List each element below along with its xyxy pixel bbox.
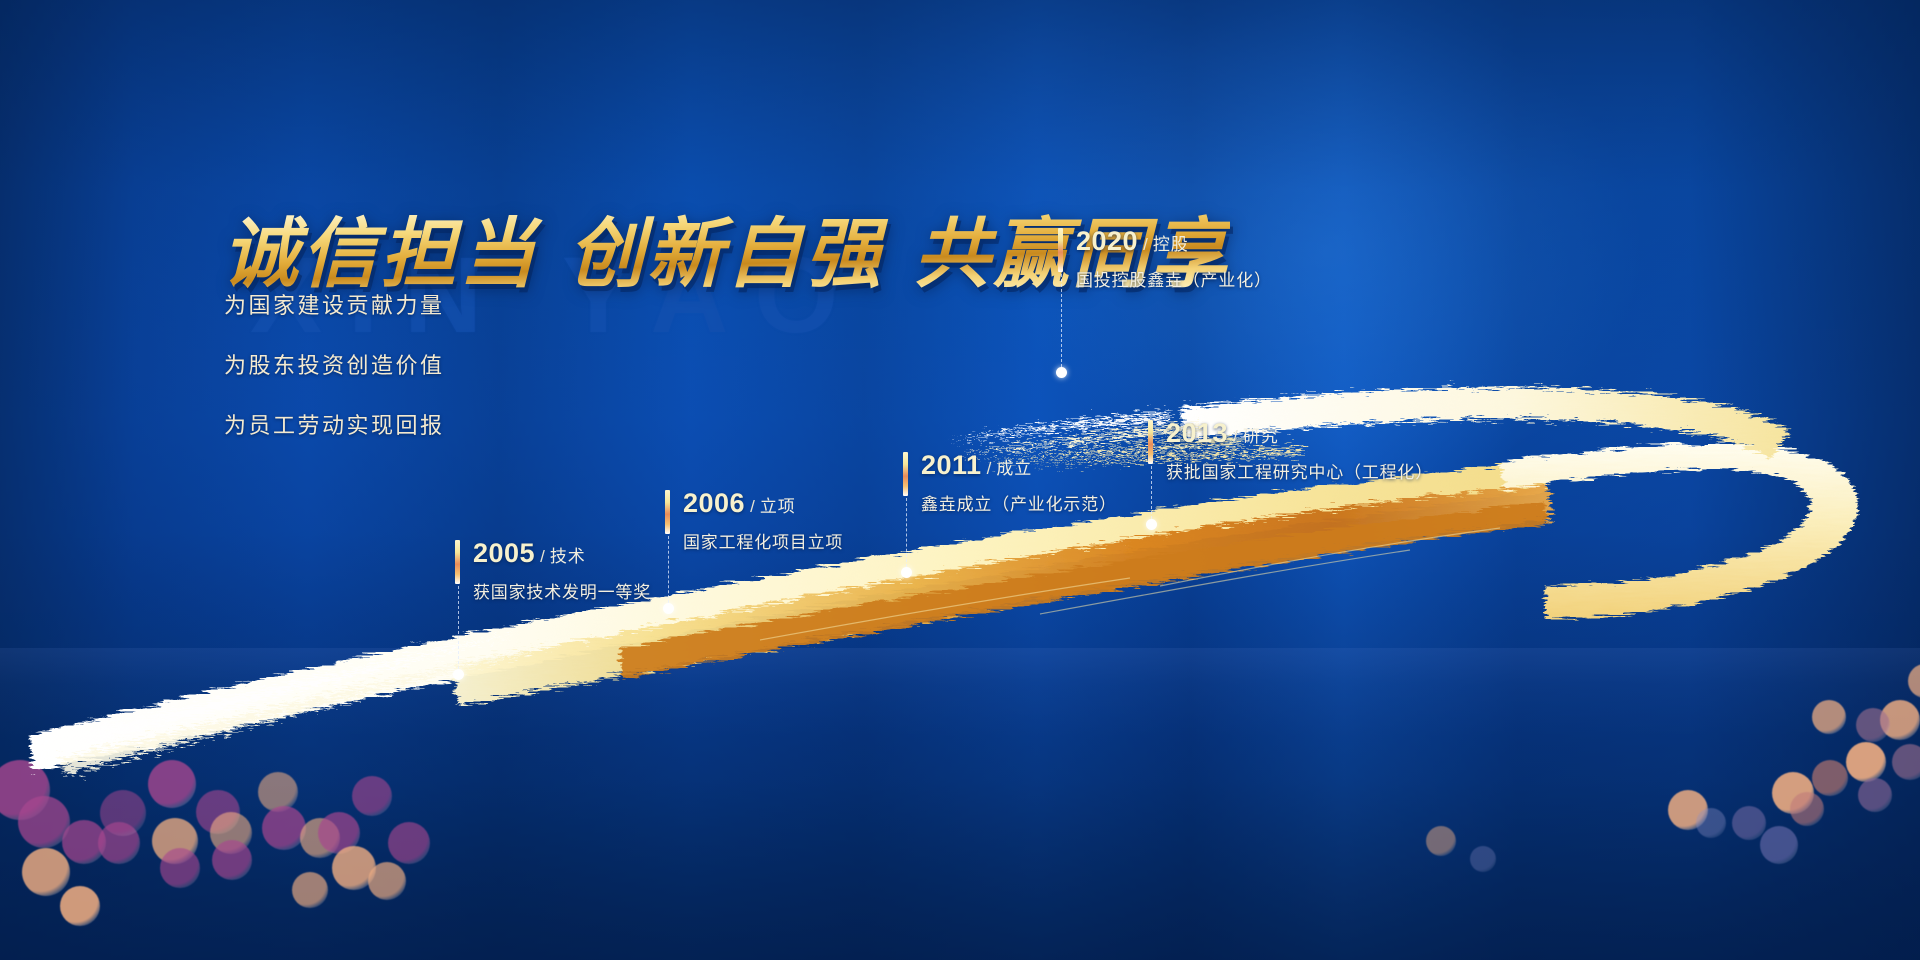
milestone-dot[interactable] xyxy=(901,567,912,578)
milestone-year: 2005 xyxy=(473,538,535,568)
milestone-tag: 研究 xyxy=(1243,427,1279,446)
milestone-text: 2013/研究获批国家工程研究中心（工程化） xyxy=(1166,420,1433,483)
milestone-accent-bar xyxy=(1058,228,1063,272)
timeline-milestone[interactable]: 2005/技术获国家技术发明一等奖 xyxy=(455,540,651,603)
milestone-text: 2011/成立鑫垚成立（产业化示范） xyxy=(921,452,1117,515)
milestone-text: 2005/技术获国家技术发明一等奖 xyxy=(473,540,651,603)
milestone-description: 获国家技术发明一等奖 xyxy=(473,578,651,603)
subtitle-line: 为国家建设贡献力量 xyxy=(224,288,445,320)
milestone-tag: 控股 xyxy=(1153,235,1189,254)
milestone-dot[interactable] xyxy=(453,669,464,680)
milestone-description: 国家工程化项目立项 xyxy=(683,528,843,553)
milestone-accent-bar xyxy=(1148,420,1153,464)
timeline-milestone[interactable]: 2013/研究获批国家工程研究中心（工程化） xyxy=(1148,420,1433,483)
subtitle-line: 为员工劳动实现回报 xyxy=(224,408,445,440)
milestone-accent-bar xyxy=(455,540,460,584)
milestone-year: 2011 xyxy=(921,450,982,480)
milestone-leader-line xyxy=(1061,274,1062,372)
milestone-year: 2020 xyxy=(1076,226,1138,256)
milestone-separator: / xyxy=(750,497,755,516)
milestone-separator: / xyxy=(1233,427,1238,446)
milestone-heading: 2013/研究 xyxy=(1166,420,1433,447)
milestone-year: 2006 xyxy=(683,488,745,518)
headline-part-2: 创新自强 xyxy=(568,212,884,297)
milestone-separator: / xyxy=(1143,235,1148,254)
milestone-separator: / xyxy=(540,547,545,566)
milestone-leader-line xyxy=(668,536,669,608)
milestone-heading: 2006/立项 xyxy=(683,490,843,517)
milestone-heading: 2011/成立 xyxy=(921,452,1117,479)
headline-part-1: 诚信担当 xyxy=(222,212,538,297)
milestone-text: 2006/立项国家工程化项目立项 xyxy=(683,490,843,553)
milestone-description: 国投控股鑫垚（产业化） xyxy=(1076,266,1272,291)
milestone-dot[interactable] xyxy=(1146,519,1157,530)
milestone-tag: 成立 xyxy=(996,459,1032,478)
milestone-description: 获批国家工程研究中心（工程化） xyxy=(1166,458,1433,483)
milestone-leader-line xyxy=(906,498,907,572)
timeline-milestone[interactable]: 2011/成立鑫垚成立（产业化示范） xyxy=(903,452,1117,515)
milestone-separator: / xyxy=(987,459,992,478)
milestone-tag: 技术 xyxy=(550,547,586,566)
milestone-dot[interactable] xyxy=(663,603,674,614)
timeline-milestone[interactable]: 2006/立项国家工程化项目立项 xyxy=(665,490,843,553)
milestone-tag: 立项 xyxy=(760,497,796,516)
milestone-description: 鑫垚成立（产业化示范） xyxy=(921,490,1117,515)
banner-canvas: XIN YAO 诚信担当创新自强共赢同享 为国家建设贡献力量 为股东投资创造价值… xyxy=(0,0,1920,960)
ribbon-right-loop xyxy=(1500,444,1858,619)
milestone-heading: 2020/控股 xyxy=(1076,228,1272,255)
timeline-milestone[interactable]: 2020/控股国投控股鑫垚（产业化） xyxy=(1058,228,1272,291)
milestone-leader-line xyxy=(458,586,459,674)
milestone-dot[interactable] xyxy=(1056,367,1067,378)
subtitle-line: 为股东投资创造价值 xyxy=(224,348,445,380)
subtitle-list: 为国家建设贡献力量 为股东投资创造价值 为员工劳动实现回报 xyxy=(224,288,445,468)
milestone-accent-bar xyxy=(903,452,908,496)
milestone-leader-line xyxy=(1151,466,1152,524)
milestone-text: 2020/控股国投控股鑫垚（产业化） xyxy=(1076,228,1272,291)
milestone-year: 2013 xyxy=(1166,418,1228,448)
milestone-accent-bar xyxy=(665,490,670,534)
milestone-heading: 2005/技术 xyxy=(473,540,651,567)
